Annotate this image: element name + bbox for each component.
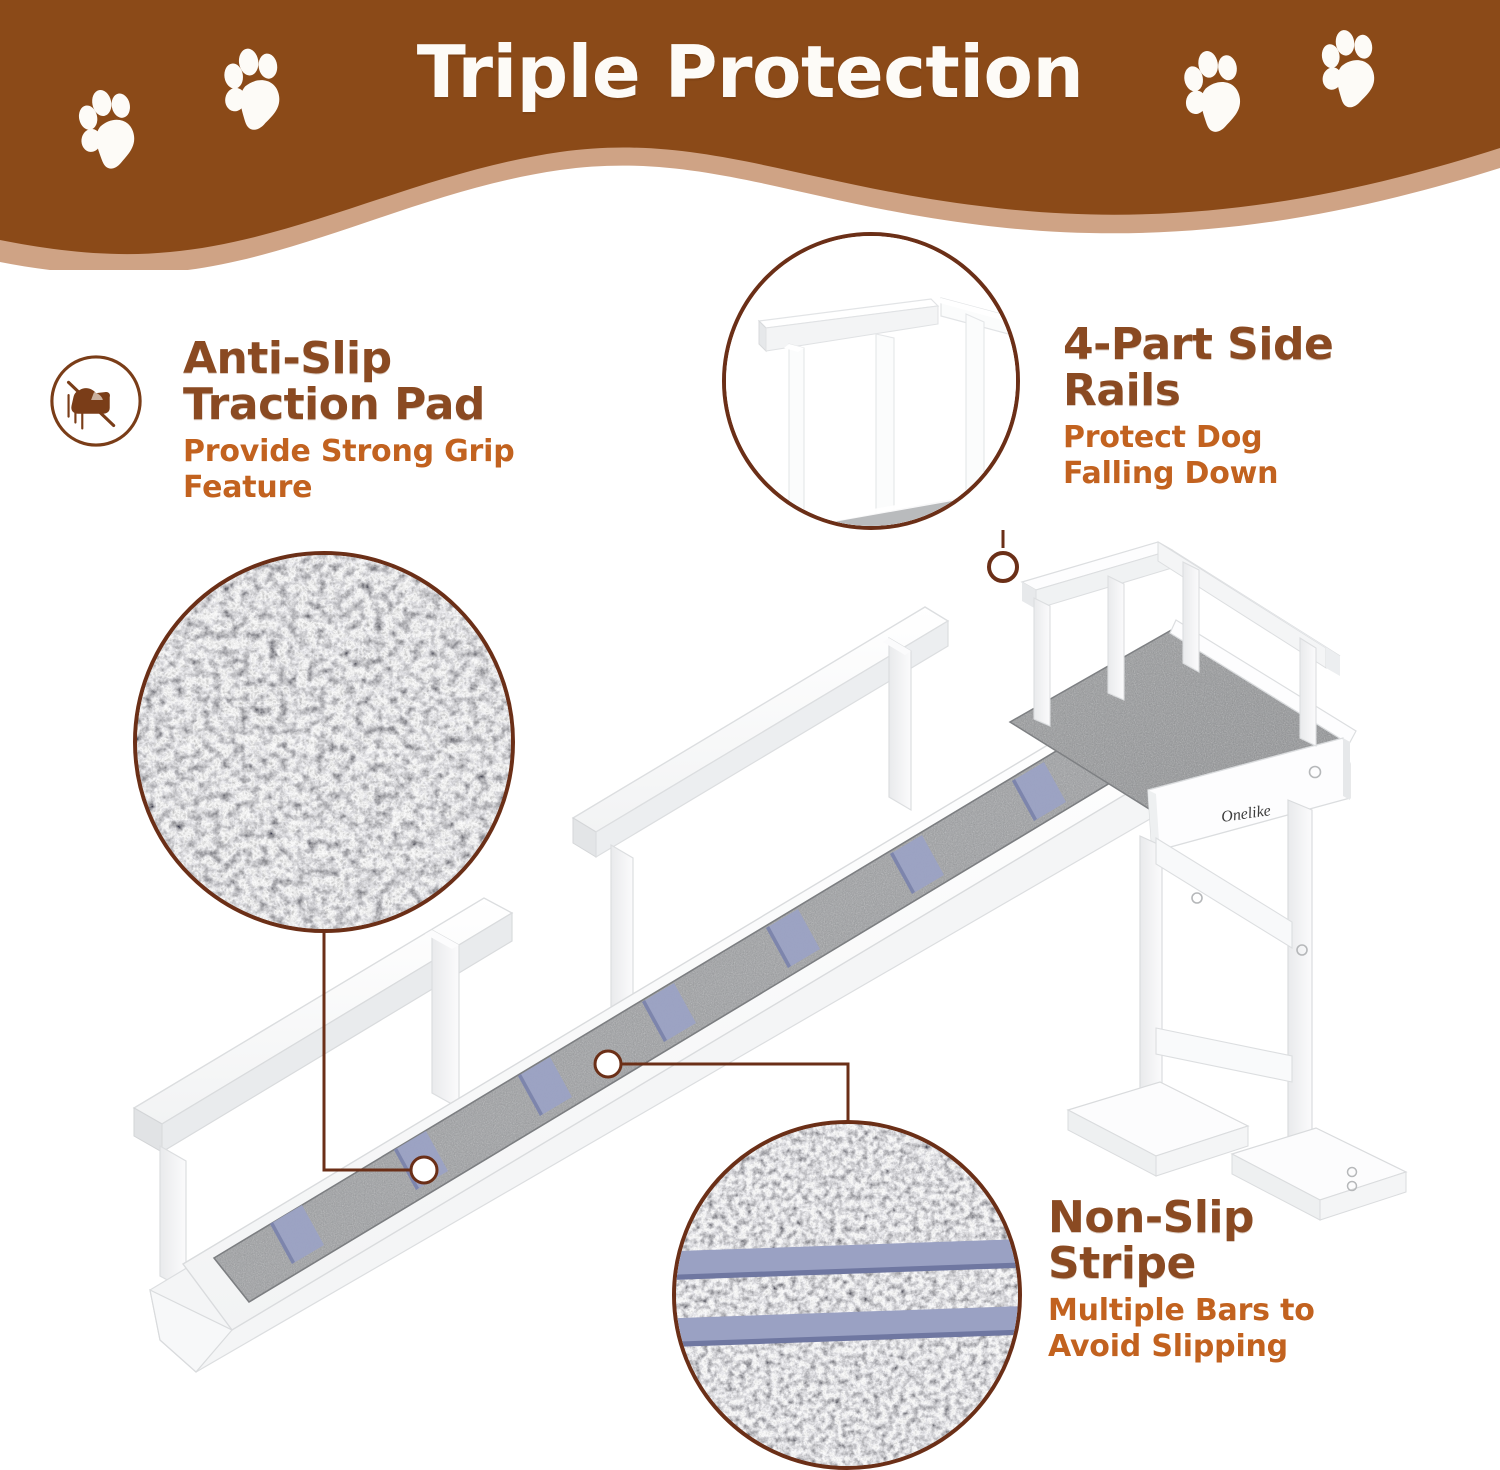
feature-non-slip-stripe: Non-Slip Stripe Multiple Bars to Avoid S… bbox=[1048, 1195, 1408, 1366]
feature-title-line: Anti-Slip bbox=[183, 336, 603, 382]
feature-title: 4-Part Side Rails bbox=[1063, 322, 1413, 414]
feature-4-part-side-rails: 4-Part Side Rails Protect Dog Falling Do… bbox=[1063, 322, 1413, 493]
circle-non-slip-stripe bbox=[672, 1120, 1022, 1470]
stripe-closeup-texture bbox=[672, 1120, 1022, 1470]
platform-legs bbox=[1068, 800, 1406, 1220]
feature-title-line: Stripe bbox=[1048, 1241, 1408, 1287]
feature-subtitle-line: Multiple Bars to bbox=[1048, 1293, 1408, 1330]
feature-subtitle-line: Feature bbox=[183, 470, 603, 507]
side-rails-closeup bbox=[726, 236, 1020, 530]
feature-subtitle-line: Provide Strong Grip bbox=[183, 434, 603, 471]
feature-anti-slip-traction-pad: Anti-Slip Traction Pad Provide Strong Gr… bbox=[183, 336, 603, 507]
circle-side-rails bbox=[722, 232, 1020, 530]
feature-subtitle-line: Falling Down bbox=[1063, 456, 1413, 493]
feature-subtitle: Multiple Bars to Avoid Slipping bbox=[1048, 1293, 1408, 1366]
feature-subtitle-line: Avoid Slipping bbox=[1048, 1329, 1408, 1366]
feature-subtitle: Protect Dog Falling Down bbox=[1063, 420, 1413, 493]
feature-subtitle-line: Protect Dog bbox=[1063, 420, 1413, 457]
carpet-texture bbox=[133, 551, 515, 933]
feature-subtitle: Provide Strong Grip Feature bbox=[183, 434, 603, 507]
feature-title-line: Rails bbox=[1063, 368, 1413, 414]
no-slip-shoe-icon bbox=[47, 352, 145, 450]
feature-title: Non-Slip Stripe bbox=[1048, 1195, 1408, 1287]
feature-title-line: Traction Pad bbox=[183, 382, 603, 428]
feature-title-line: 4-Part Side bbox=[1063, 322, 1413, 368]
feature-title-line: Non-Slip bbox=[1048, 1195, 1408, 1241]
feature-title: Anti-Slip Traction Pad bbox=[183, 336, 603, 428]
circle-traction-pad bbox=[133, 551, 515, 933]
